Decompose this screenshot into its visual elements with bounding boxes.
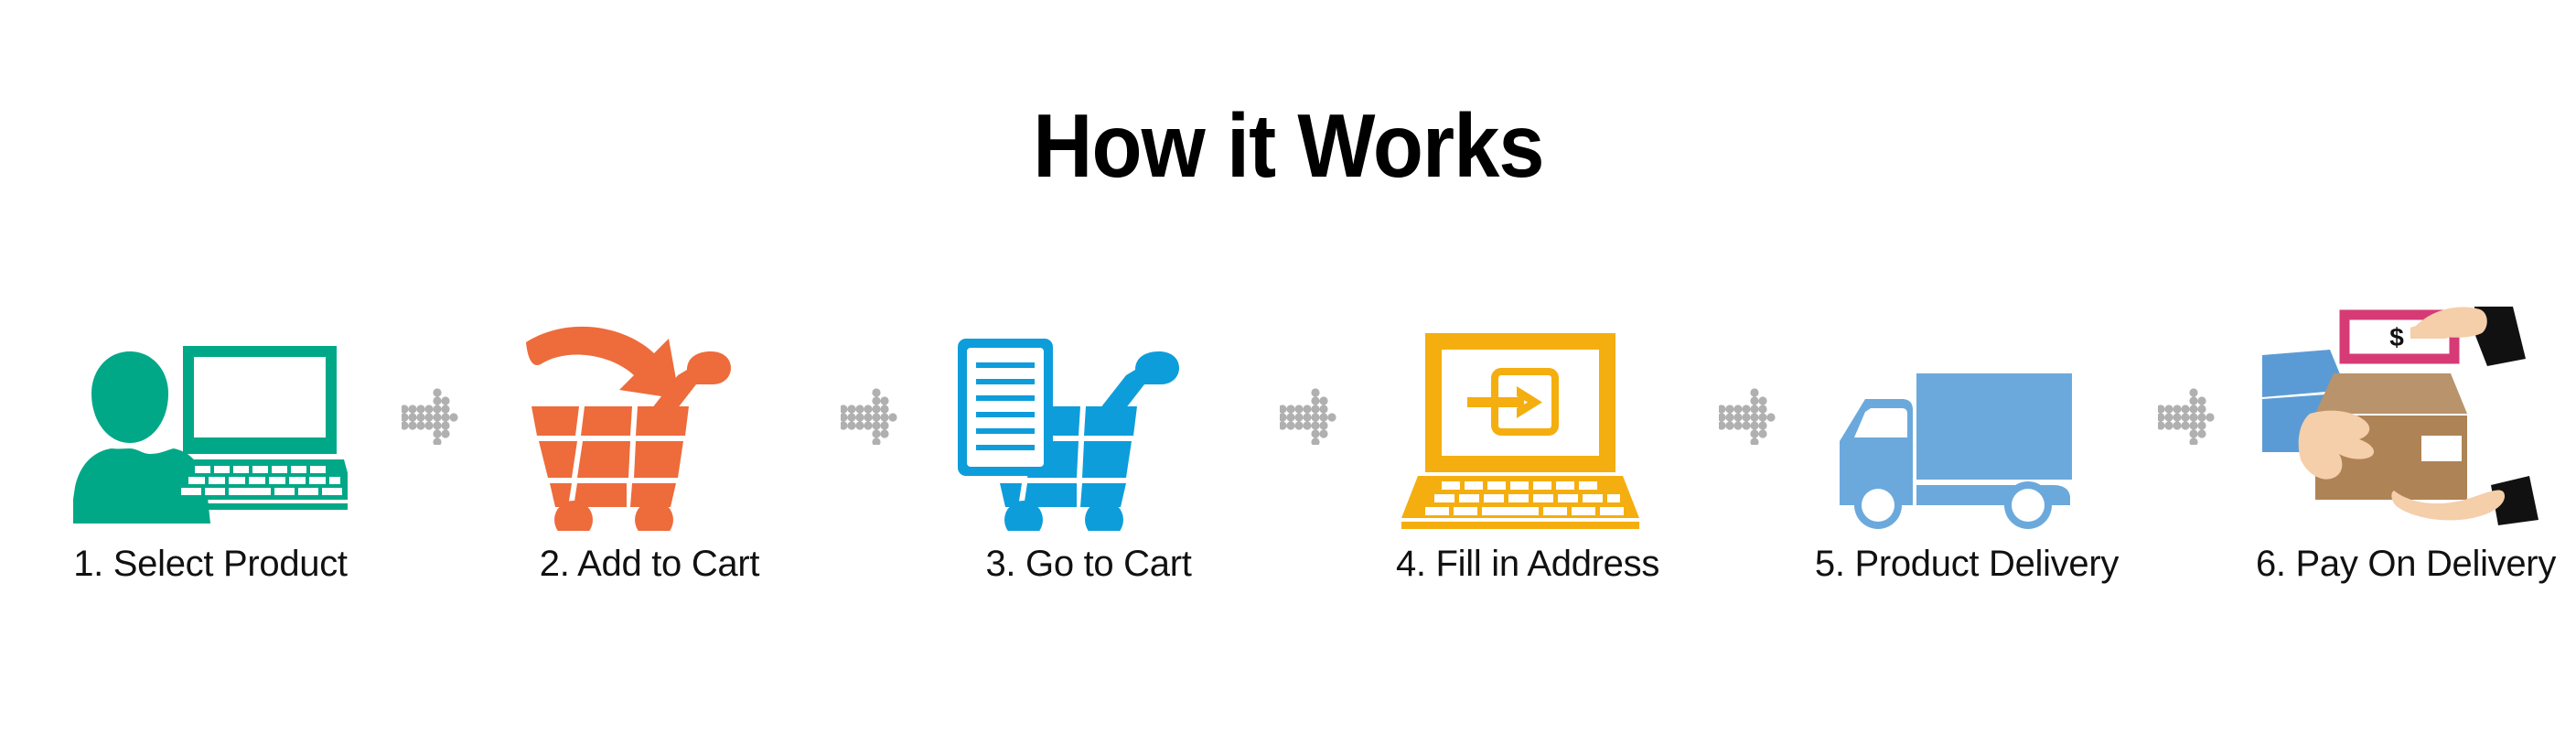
step-2-icon-box [467,302,832,531]
step-1-icon-box [27,302,393,531]
separator-2 [832,302,906,531]
delivery-truck-icon [1825,348,2109,531]
money-note-dollar-symbol: $ [2389,323,2404,351]
dotted-arrow-right-icon [1719,388,1776,445]
how-it-works-infographic: How it Works [0,0,2576,745]
title-container: How it Works [0,101,2576,190]
dotted-arrow-right-icon [402,388,458,445]
step-4-icon-box [1345,302,1711,531]
dotted-arrow-right-icon [1280,388,1336,445]
step-5-label: 5. Product Delivery [1815,544,2119,584]
page-title: How it Works [1033,101,1543,190]
step-5-icon-box [1784,302,2150,531]
step-3-go-to-cart[interactable]: 3. Go to Cart [906,302,1272,613]
hands-exchange-box-and-money-icon: $ [2255,302,2557,531]
separator-5 [2150,302,2223,531]
step-2-add-to-cart[interactable]: 2. Add to Cart [467,302,832,613]
steps-row: 1. Select Product [27,302,2552,613]
separator-1 [393,302,467,531]
separator-4 [1711,302,1784,531]
laptop-login-icon [1390,329,1665,531]
step-1-select-product[interactable]: 1. Select Product [27,302,393,613]
step-6-pay-on-delivery[interactable]: $ [2223,302,2576,613]
cart-with-arrow-icon [517,311,782,531]
box-lid [2315,373,2467,414]
dotted-arrow-right-icon [841,388,897,445]
cart-with-document-icon [956,311,1221,531]
step-4-label: 4. Fill in Address [1396,544,1659,584]
step-5-product-delivery[interactable]: 5. Product Delivery [1784,302,2150,613]
separator-3 [1272,302,1345,531]
step-6-icon-box: $ [2223,302,2576,531]
person-at-laptop-icon [73,329,348,531]
step-2-label: 2. Add to Cart [540,544,759,584]
box-shipping-label [2421,436,2462,461]
step-6-label: 6. Pay On Delivery [2256,544,2556,584]
step-4-fill-in-address[interactable]: 4. Fill in Address [1345,302,1711,613]
step-3-icon-box [906,302,1272,531]
dotted-arrow-right-icon [2158,388,2215,445]
step-3-label: 3. Go to Cart [985,544,1191,584]
step-1-label: 1. Select Product [73,544,348,584]
